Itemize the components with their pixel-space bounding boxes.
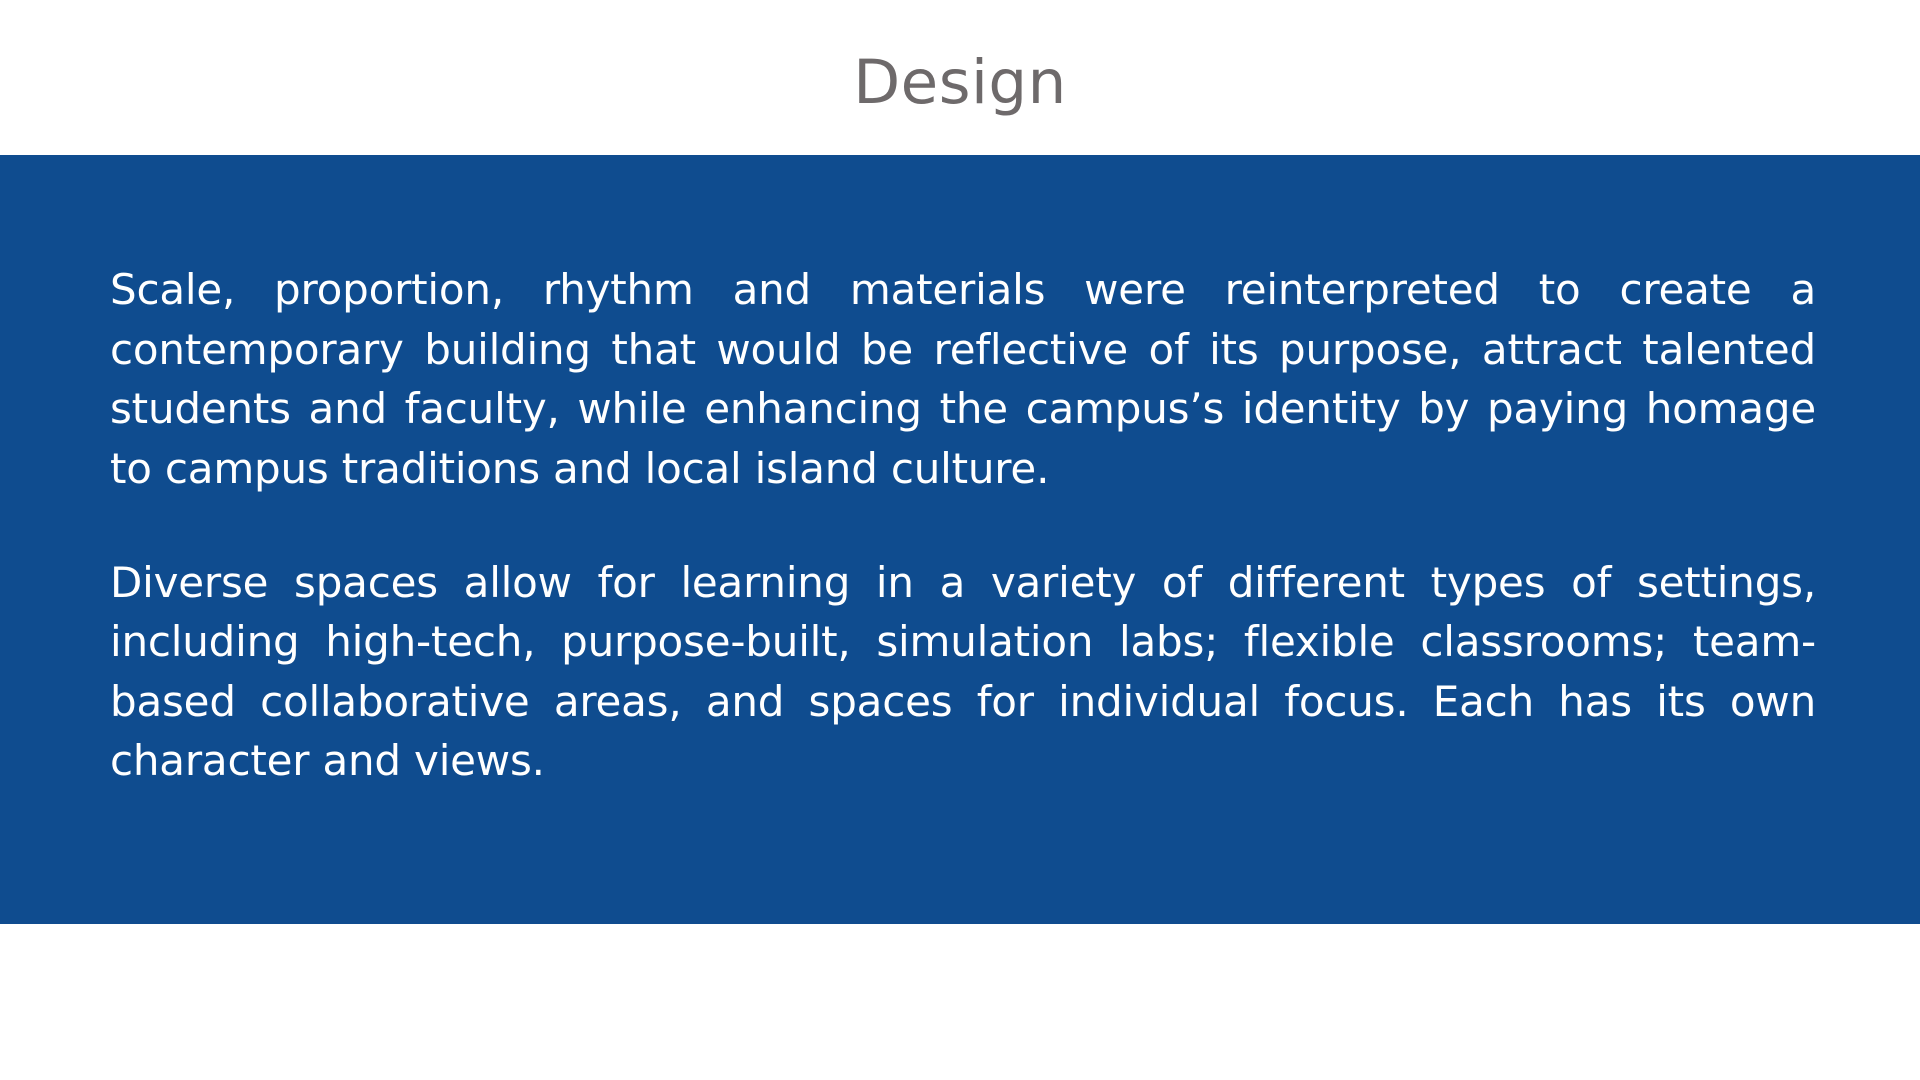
body-paragraph-2: Diverse spaces allow for learning in a v… — [110, 553, 1816, 792]
slide-title-area: Design — [0, 0, 1920, 155]
paragraph-spacer — [110, 499, 1816, 553]
slide-footer-area — [0, 924, 1920, 1080]
body-paragraph-1: Scale, proportion, rhythm and materials … — [110, 260, 1816, 499]
content-band: Scale, proportion, rhythm and materials … — [0, 155, 1920, 924]
presentation-slide: Design Scale, proportion, rhythm and mat… — [0, 0, 1920, 1080]
page-title: Design — [853, 52, 1067, 113]
body-text-block: Scale, proportion, rhythm and materials … — [110, 260, 1816, 791]
